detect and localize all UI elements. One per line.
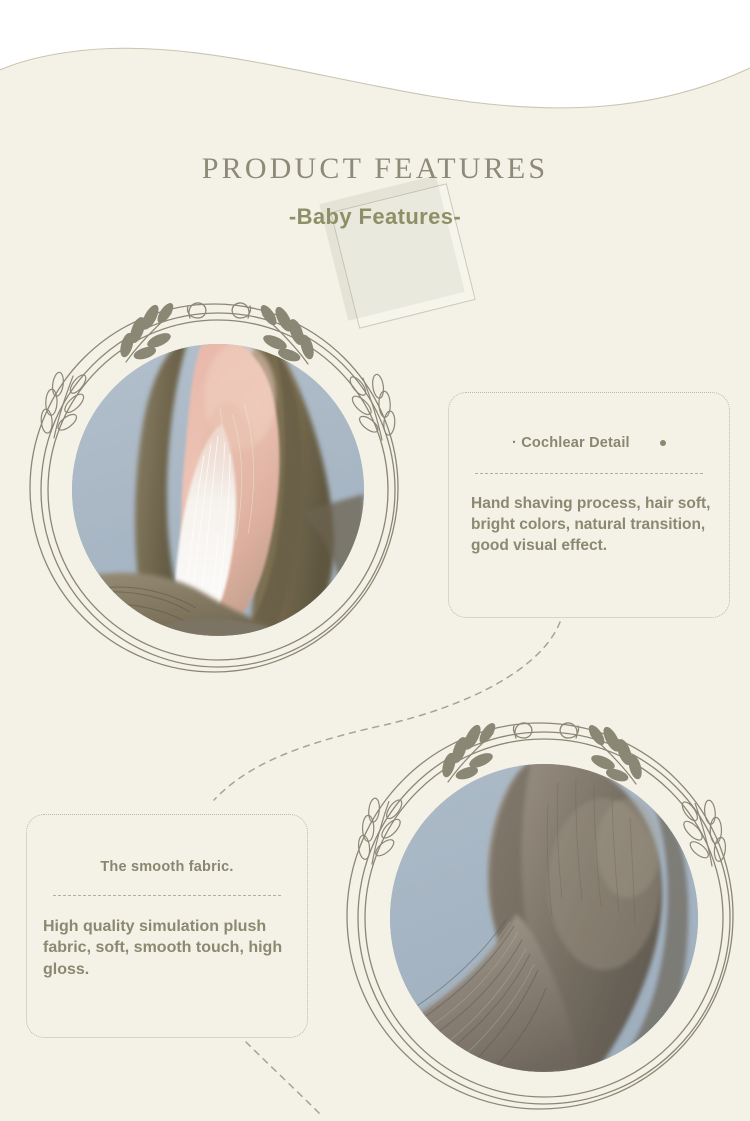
tendril-curl-left bbox=[513, 723, 531, 738]
wreath-frame-1 bbox=[8, 288, 408, 688]
product-features-page: PRODUCT FEATURES -Baby Features- bbox=[0, 0, 750, 1121]
heading-bullet-dot bbox=[660, 440, 666, 446]
feature-card-fabric[interactable]: The smooth fabric. High quality simulati… bbox=[26, 814, 308, 1038]
heading-text: The smooth fabric. bbox=[100, 859, 233, 875]
heading-lead-dot: · bbox=[512, 435, 517, 451]
card-divider bbox=[475, 473, 703, 474]
feature-card-cochlear[interactable]: · Cochlear Detail Hand shaving process, … bbox=[448, 392, 730, 618]
card-heading-fabric: The smooth fabric. bbox=[27, 859, 307, 875]
photo-block-fabric bbox=[330, 712, 750, 1121]
connector-card2-to-photo2 bbox=[246, 1042, 322, 1116]
card-body-fabric: High quality simulation plush fabric, so… bbox=[43, 916, 307, 980]
wreath-frame-2 bbox=[330, 712, 750, 1121]
heading-text: Cochlear Detail bbox=[521, 435, 630, 451]
card-heading-cochlear: · Cochlear Detail bbox=[449, 435, 729, 451]
card-body-cochlear: Hand shaving process, hair soft, bright … bbox=[471, 494, 729, 556]
tendril-curl-right bbox=[232, 303, 250, 318]
page-subtitle: -Baby Features- bbox=[0, 204, 750, 230]
page-header: PRODUCT FEATURES -Baby Features- bbox=[0, 92, 750, 287]
card-divider bbox=[53, 895, 281, 896]
page-title: PRODUCT FEATURES bbox=[0, 152, 750, 186]
photo-block-cochlear bbox=[8, 288, 408, 688]
